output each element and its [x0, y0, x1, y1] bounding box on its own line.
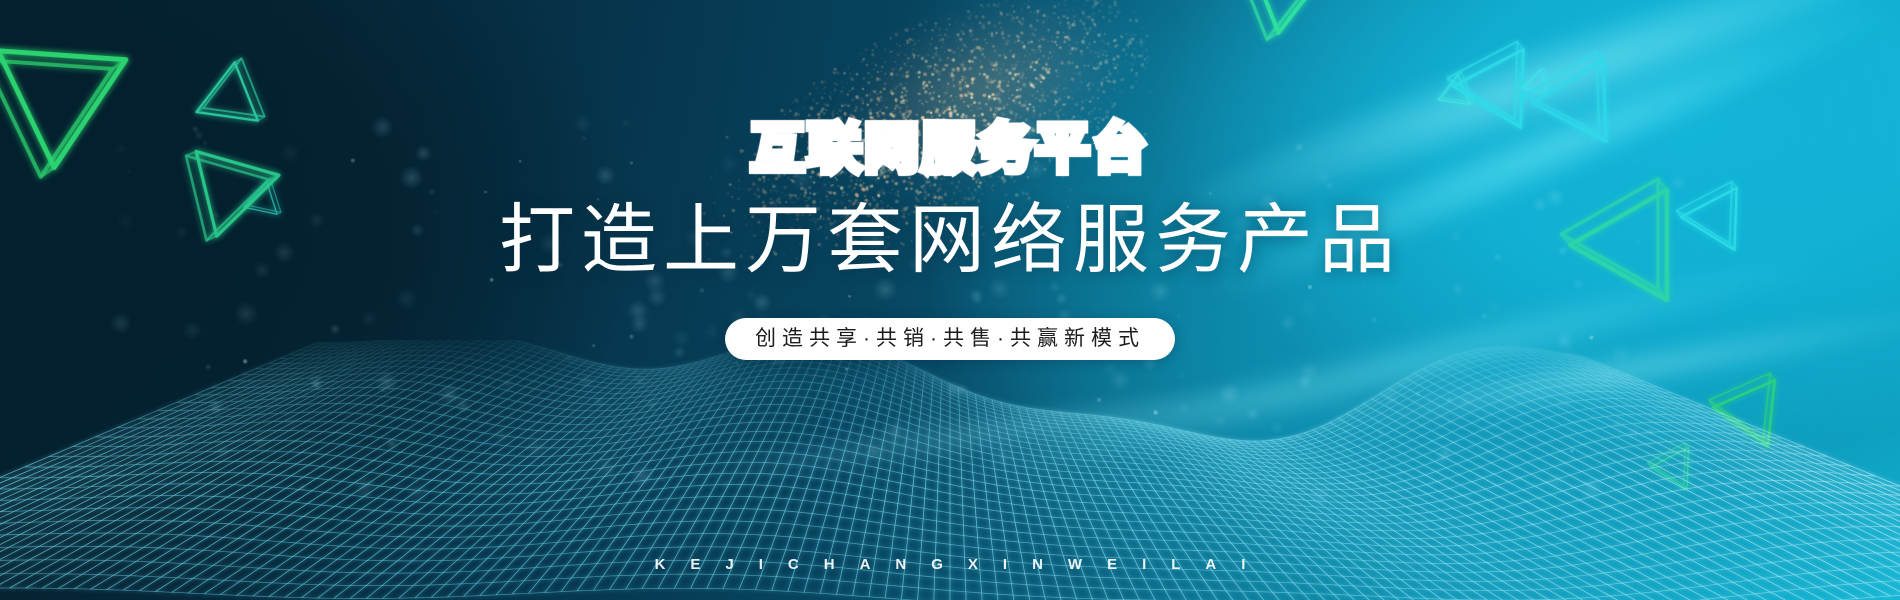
banner-content: 互联网服务平台 互联网服务平台 打造上万套网络服务产品 创造共享·共销·共售·共… — [0, 0, 1900, 600]
banner-headline: 打造上万套网络服务产品 — [499, 202, 1401, 282]
banner-subtitle-platform: 互联网服务平台 互联网服务平台 — [751, 122, 1150, 176]
banner-tagline-pill: 创造共享·共销·共售·共赢新模式 — [725, 318, 1175, 360]
banner-tagline-text: 创造共享·共销·共售·共赢新模式 — [755, 328, 1145, 349]
hero-banner: 互联网服务平台 互联网服务平台 打造上万套网络服务产品 创造共享·共销·共售·共… — [0, 0, 1900, 600]
banner-subtitle-fill: 互联网服务平台 — [751, 119, 1150, 179]
